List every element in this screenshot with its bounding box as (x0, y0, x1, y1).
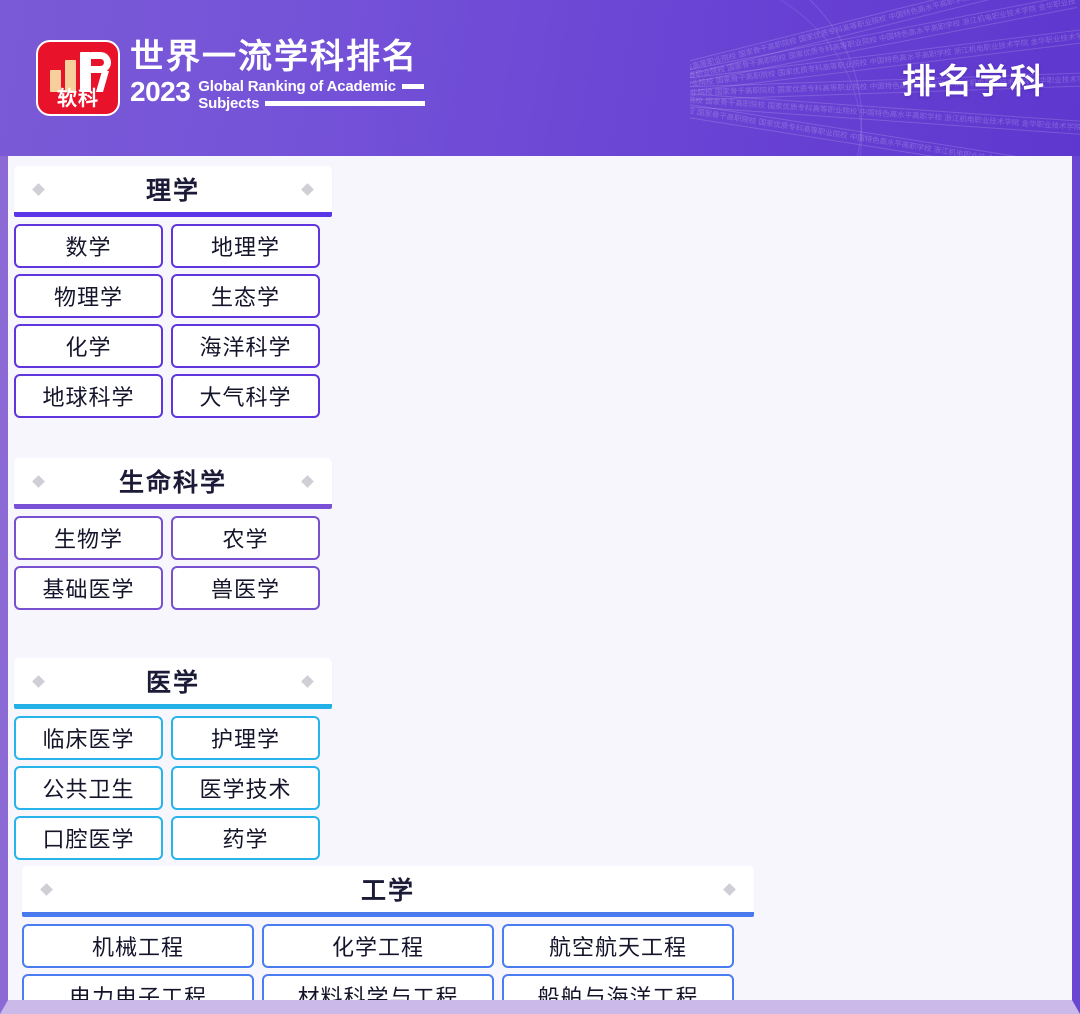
subject-chip[interactable]: 公共卫生 (14, 766, 163, 810)
subject-category-grid: 理学 数学 地理学 物理学 生态学 化学 海洋科学 地球科学 大气科学 (8, 156, 1072, 1000)
rule-decoration (265, 101, 425, 106)
brand-title-chinese: 世界一流学科排名 (130, 38, 425, 76)
left-column: 理学 数学 地理学 物理学 生态学 化学 海洋科学 地球科学 大气科学 (14, 166, 332, 866)
subject-chip[interactable]: 化学 (14, 324, 163, 368)
page-title: 排名学科 (902, 54, 1046, 103)
subject-chip[interactable]: 临床医学 (14, 716, 163, 760)
subject-chip[interactable]: 地球科学 (14, 374, 163, 418)
subject-chip[interactable]: 数学 (14, 224, 163, 268)
page-header: 国家示范性高等职业院校 国家骨干高职院校 国家优质专科高等职业院校 中国特色高水… (0, 0, 1080, 156)
shanghairanking-logo-icon: 软科 (36, 40, 120, 116)
edition-year: 2023 (130, 78, 190, 105)
section-engineering: 工学 机械工程 化学工程 航空航天工程 电力电子工程 材料科学与工程 船舶与海洋… (22, 866, 754, 1014)
subject-chip[interactable]: 地理学 (171, 224, 320, 268)
subject-chip[interactable]: 化学工程 (262, 924, 494, 968)
section-header-medical-sciences: 医学 (14, 658, 332, 704)
subject-chip[interactable]: 药学 (171, 816, 320, 860)
section-natural-sciences: 理学 数学 地理学 物理学 生态学 化学 海洋科学 地球科学 大气科学 (14, 166, 332, 424)
subject-chip[interactable]: 农学 (171, 516, 320, 560)
section-header-engineering: 工学 (22, 866, 754, 912)
subject-list-medical-sciences: 临床医学 护理学 公共卫生 医学技术 口腔医学 药学 (14, 716, 332, 866)
brand-english-text: Subjects (198, 96, 259, 111)
subject-list-engineering: 机械工程 化学工程 航空航天工程 电力电子工程 材料科学与工程 船舶与海洋工程 … (22, 924, 754, 1014)
brand-title-english-line-2: Subjects (198, 96, 425, 111)
right-column: 工学 机械工程 化学工程 航空航天工程 电力电子工程 材料科学与工程 船舶与海洋… (22, 866, 754, 1014)
subject-chip[interactable]: 船舶与海洋工程 (502, 974, 734, 1014)
subject-chip[interactable]: 生物学 (14, 516, 163, 560)
section-title-life-sciences: 生命科学 (119, 463, 227, 499)
subject-chip[interactable]: 医学技术 (171, 766, 320, 810)
diamond-icon (301, 675, 314, 688)
brand-title-english-line-1: Global Ranking of Academic (198, 79, 425, 94)
diamond-icon (301, 475, 314, 488)
section-accent-rule (22, 912, 754, 917)
section-medical-sciences: 医学 临床医学 护理学 公共卫生 医学技术 口腔医学 药学 (14, 658, 332, 866)
ranking-subjects-page: 国家示范性高等职业院校 国家骨干高职院校 国家优质专科高等职业院校 中国特色高水… (0, 0, 1080, 1014)
subject-chip[interactable]: 机械工程 (22, 924, 254, 968)
brand-subtitle-block: 2023 Global Ranking of Academic Subjects (130, 78, 425, 111)
subject-chip[interactable]: 护理学 (171, 716, 320, 760)
brand-title-english-block: Global Ranking of Academic Subjects (198, 78, 425, 111)
section-title-natural-sciences: 理学 (146, 171, 200, 207)
diamond-icon (301, 183, 314, 196)
logo-brand-name: 软科 (38, 88, 118, 108)
section-title-medical-sciences: 医学 (146, 663, 200, 699)
section-header-life-sciences: 生命科学 (14, 458, 332, 504)
subject-list-life-sciences: 生物学 农学 基础医学 兽医学 (14, 516, 332, 616)
brand-english-text: Global Ranking of Academic (198, 79, 396, 94)
diamond-icon (32, 675, 45, 688)
diamond-icon (40, 883, 53, 896)
subject-chip[interactable]: 航空航天工程 (502, 924, 734, 968)
subject-chip[interactable]: 兽医学 (171, 566, 320, 610)
subject-chip[interactable]: 电力电子工程 (22, 974, 254, 1014)
rule-decoration (402, 84, 424, 89)
section-life-sciences: 生命科学 生物学 农学 基础医学 兽医学 (14, 458, 332, 616)
diamond-icon (32, 183, 45, 196)
subject-chip[interactable]: 基础医学 (14, 566, 163, 610)
section-title-engineering: 工学 (361, 871, 415, 907)
subject-chip[interactable]: 物理学 (14, 274, 163, 318)
subject-chip[interactable]: 材料科学与工程 (262, 974, 494, 1014)
subject-chip[interactable]: 大气科学 (171, 374, 320, 418)
section-accent-rule (14, 504, 332, 509)
subject-chip[interactable]: 生态学 (171, 274, 320, 318)
section-header-natural-sciences: 理学 (14, 166, 332, 212)
diamond-icon (32, 475, 45, 488)
brand-title-block: 世界一流学科排名 2023 Global Ranking of Academic… (130, 38, 425, 111)
page-body: 理学 数学 地理学 物理学 生态学 化学 海洋科学 地球科学 大气科学 (0, 156, 1080, 1014)
section-accent-rule (14, 212, 332, 217)
section-accent-rule (14, 704, 332, 709)
subject-chip[interactable]: 口腔医学 (14, 816, 163, 860)
diamond-icon (723, 883, 736, 896)
subject-chip[interactable]: 海洋科学 (171, 324, 320, 368)
subject-list-natural-sciences: 数学 地理学 物理学 生态学 化学 海洋科学 地球科学 大气科学 (14, 224, 332, 424)
